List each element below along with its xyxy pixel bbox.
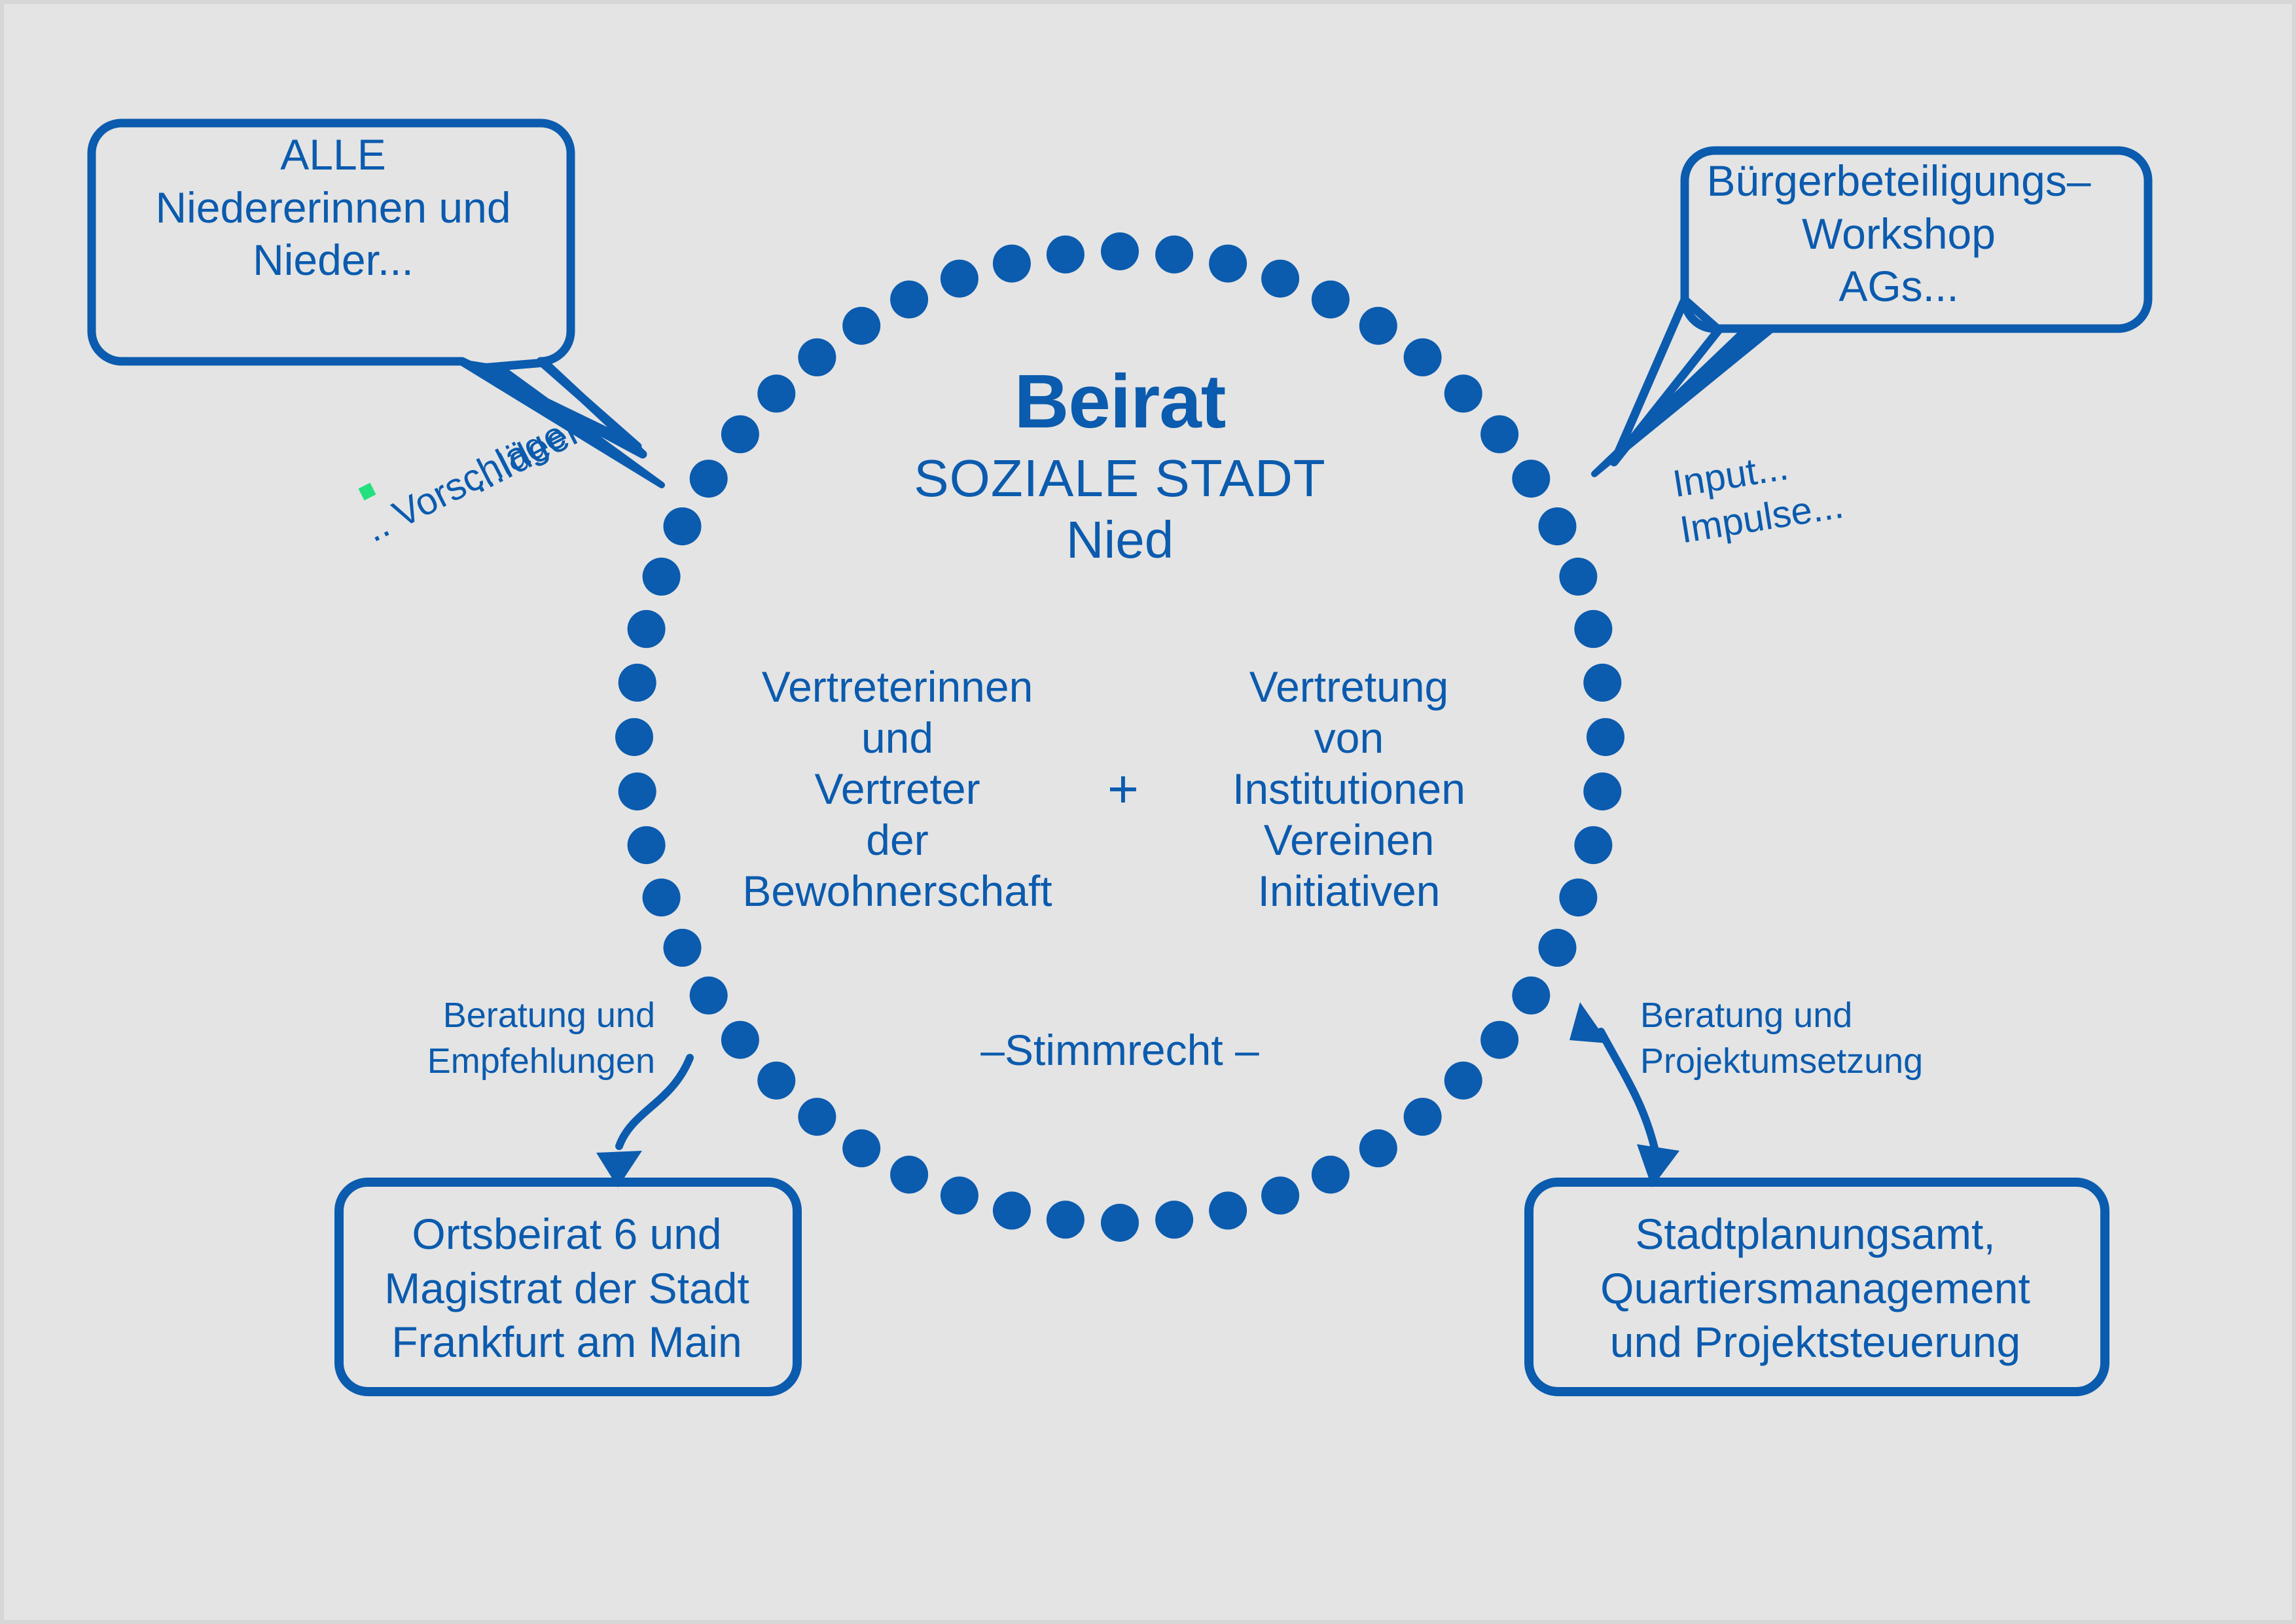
ring-dot: [1539, 929, 1577, 967]
ring-dot: [721, 1021, 759, 1059]
page-title: Beirat: [727, 357, 1513, 446]
ring-dot: [1444, 1062, 1482, 1100]
bubble-label-buergerbeteiligung: Bürgerbeteiligungs– Workshop AGs...: [1660, 154, 2138, 313]
ring-dot: [1155, 236, 1193, 274]
center-location: Nied: [727, 510, 1513, 571]
ring-dot: [993, 1191, 1031, 1229]
ring-dot: [1583, 664, 1621, 702]
membership-columns: Vertreterinnen und Vertreter der Bewohne…: [672, 662, 1575, 916]
ring-dot: [1209, 1191, 1247, 1229]
ring-dot: [664, 929, 702, 967]
ring-dot: [1574, 826, 1612, 864]
ring-dot: [1574, 610, 1612, 648]
connector-label-beratung-projektumsetzung: Beratung und Projektumsetzung: [1640, 992, 1954, 1084]
bubble-label-alle-niederer: ALLE Niedererinnen und Nieder...: [88, 128, 579, 287]
ring-dot: [619, 772, 656, 810]
ring-dot: [1261, 260, 1299, 298]
ring-dot: [1539, 507, 1577, 545]
ring-dot: [1155, 1200, 1193, 1238]
ring-dot: [1404, 1098, 1442, 1136]
ring-dot: [1312, 281, 1350, 319]
ring-dot: [757, 1062, 795, 1100]
ring-dot: [619, 664, 656, 702]
ring-dot: [1512, 977, 1550, 1015]
column-institutionen: Vertretung von Institutionen Vereinen In…: [1162, 662, 1535, 916]
ring-dot: [690, 977, 728, 1015]
column-bewohnerschaft: Vertreterinnen und Vertreter der Bewohne…: [711, 662, 1084, 916]
diagram-canvas: ALLE Niedererinnen und Nieder... Bürgerb…: [0, 0, 2296, 1624]
connector-label-input-impulse: Input... Impulse...: [1670, 437, 1846, 554]
ring-dot: [628, 826, 666, 864]
ring-dot: [798, 1098, 836, 1136]
ring-dot: [842, 1129, 880, 1167]
ring-dot: [628, 610, 666, 648]
ring-dot: [993, 245, 1031, 283]
ring-dot: [1209, 245, 1247, 283]
ring-dot: [1047, 236, 1085, 274]
ring-dot: [1101, 232, 1139, 270]
ring-dot: [1583, 772, 1621, 810]
green-dot-marker: [359, 483, 376, 501]
ring-dot: [690, 460, 728, 497]
connector-label-vorschlaege: .. Vorschläge: [357, 412, 574, 552]
ring-dot: [1512, 460, 1550, 497]
ring-dot: [890, 1156, 928, 1194]
plus-operator: +: [1084, 763, 1162, 816]
ring-dot: [643, 558, 681, 596]
center-subtitle: SOZIALE STADT: [727, 448, 1513, 509]
ring-dot: [1559, 558, 1597, 596]
ring-dot: [664, 507, 702, 545]
ring-dot: [1359, 1129, 1397, 1167]
ring-dot: [1587, 718, 1624, 756]
stimmrecht-note: –Stimmrecht –: [793, 1025, 1447, 1075]
connector-label-beratung-empfehlungen: Beratung und Empfehlungen: [380, 992, 655, 1084]
center-heading-group: Beirat SOZIALE STADT Nied: [727, 357, 1513, 571]
ring-dot: [1312, 1156, 1350, 1194]
box-label-stadtplanungsamt: Stadtplanungsamt, Quartiersmanagement un…: [1529, 1207, 2102, 1369]
ring-dot: [842, 307, 880, 345]
ring-dot: [941, 1176, 978, 1214]
bubble-tail-tr: [1614, 300, 1719, 462]
ring-dot: [1101, 1204, 1139, 1242]
ring-dot: [1480, 1021, 1518, 1059]
ring-dot: [890, 281, 928, 319]
ring-dot: [1261, 1176, 1299, 1214]
ring-dot: [1047, 1200, 1085, 1238]
ring-dot: [1359, 307, 1397, 345]
box-label-ortsbeirat: Ortsbeirat 6 und Magistrat der Stadt Fra…: [334, 1207, 799, 1369]
ring-dot: [941, 260, 978, 298]
ring-dot: [615, 718, 653, 756]
